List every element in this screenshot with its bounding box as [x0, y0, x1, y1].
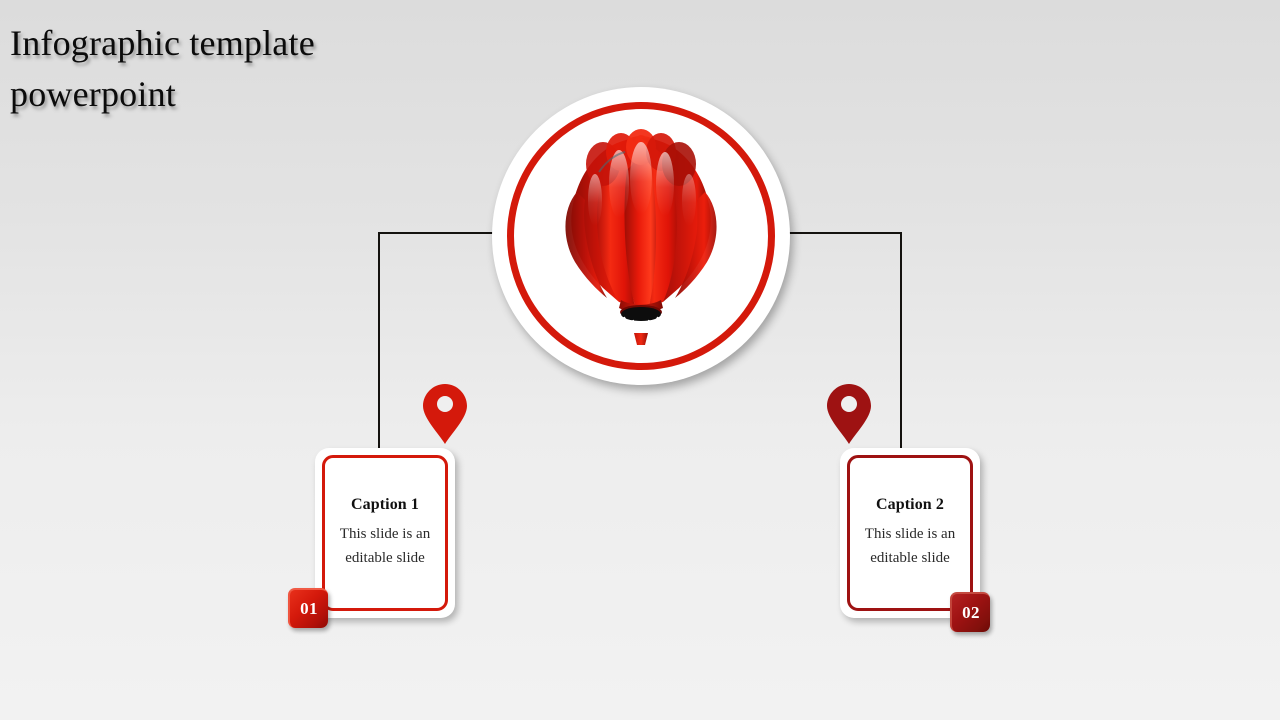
caption-card-1-inner: Caption 1 This slide is an editable slid…	[322, 455, 448, 611]
connector-left-vertical	[378, 232, 380, 452]
number-badge-02[interactable]: 02	[950, 592, 990, 632]
caption-body-1: This slide is an editable slide	[333, 523, 437, 570]
center-emblem	[492, 87, 790, 385]
caption-body-2: This slide is an editable slide	[858, 523, 962, 570]
connector-right-vertical	[900, 232, 902, 452]
number-badge-01[interactable]: 01	[288, 588, 328, 628]
caption-title-1: Caption 1	[351, 496, 419, 514]
connector-right-horizontal	[788, 232, 902, 234]
map-pin-icon-2	[826, 383, 872, 445]
map-pin-icon-1	[422, 383, 468, 445]
caption-card-1[interactable]: Caption 1 This slide is an editable slid…	[315, 448, 455, 618]
caption-card-2-inner: Caption 2 This slide is an editable slid…	[847, 455, 973, 611]
connector-left-horizontal	[378, 232, 493, 234]
hot-air-balloon-icon	[541, 126, 741, 346]
page-title: Infographic template powerpoint	[10, 18, 630, 120]
caption-title-2: Caption 2	[876, 496, 944, 514]
infographic-slide: Infographic template powerpoint	[0, 0, 1280, 720]
